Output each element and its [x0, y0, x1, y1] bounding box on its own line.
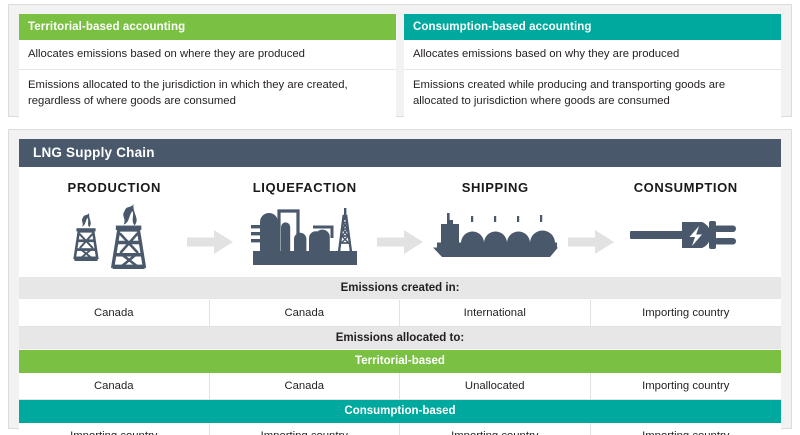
territorial-consumption-cell: Importing country — [591, 373, 782, 399]
stage-shipping: SHIPPING — [400, 167, 591, 277]
consumption-liquefaction-cell: Importing country — [210, 423, 401, 435]
stage-shipping-label: SHIPPING — [462, 180, 529, 195]
territorial-allocation-row: Canada Canada Unallocated Importing coun… — [19, 373, 781, 400]
consumption-production-cell: Importing country — [19, 423, 210, 435]
stage-consumption: CONSUMPTION — [591, 167, 782, 277]
consumption-definition-long: Emissions created while producing and tr… — [404, 70, 781, 117]
oil-derrick-icon — [19, 195, 210, 277]
accounting-comparison-panel: Territorial-based accounting Allocates e… — [8, 4, 792, 117]
consumption-definition-short: Allocates emissions based on why they ar… — [404, 40, 781, 70]
territorial-liquefaction-cell: Canada — [210, 373, 401, 399]
created-shipping-cell: International — [400, 300, 591, 326]
emissions-allocated-band: Emissions allocated to: — [19, 327, 781, 350]
consumption-shipping-cell: Importing country — [400, 423, 591, 435]
territorial-definition-long: Emissions allocated to the jurisdiction … — [19, 70, 396, 117]
stage-production-label: PRODUCTION — [68, 180, 161, 195]
emissions-created-row: Canada Canada International Importing co… — [19, 300, 781, 327]
territorial-definition-short: Allocates emissions based on where they … — [19, 40, 396, 70]
created-consumption-cell: Importing country — [591, 300, 782, 326]
territorial-accounting-header: Territorial-based accounting — [19, 14, 396, 40]
stage-liquefaction-label: LIQUEFACTION — [253, 180, 357, 195]
emissions-matrix: Emissions created in: Canada Canada Inte… — [19, 277, 781, 435]
stage-liquefaction: LIQUEFACTION — [210, 167, 401, 277]
consumption-allocation-row: Importing country Importing country Impo… — [19, 423, 781, 435]
territorial-based-band: Territorial-based — [19, 350, 781, 373]
created-production-cell: Canada — [19, 300, 210, 326]
territorial-accounting-column: Territorial-based accounting Allocates e… — [19, 14, 396, 108]
supply-chain-stages: PRODUCTION — [19, 167, 781, 277]
lng-plant-icon — [210, 195, 401, 277]
comparison-table: Territorial-based accounting Allocates e… — [19, 14, 781, 108]
lng-supply-chain-panel: LNG Supply Chain PRODUCTION — [8, 129, 792, 429]
territorial-shipping-cell: Unallocated — [400, 373, 591, 399]
territorial-production-cell: Canada — [19, 373, 210, 399]
emissions-created-band: Emissions created in: — [19, 277, 781, 300]
lng-tanker-ship-icon — [400, 195, 591, 277]
consumption-based-band: Consumption-based — [19, 400, 781, 423]
lng-supply-chain-title: LNG Supply Chain — [19, 139, 781, 167]
stage-consumption-label: CONSUMPTION — [634, 180, 738, 195]
infographic-root: Territorial-based accounting Allocates e… — [0, 0, 800, 435]
created-liquefaction-cell: Canada — [210, 300, 401, 326]
stage-production: PRODUCTION — [19, 167, 210, 277]
consumption-accounting-column: Consumption-based accounting Allocates e… — [404, 14, 781, 108]
consumption-consumption-cell: Importing country — [591, 423, 782, 435]
consumption-accounting-header: Consumption-based accounting — [404, 14, 781, 40]
electric-plug-icon — [591, 195, 782, 277]
